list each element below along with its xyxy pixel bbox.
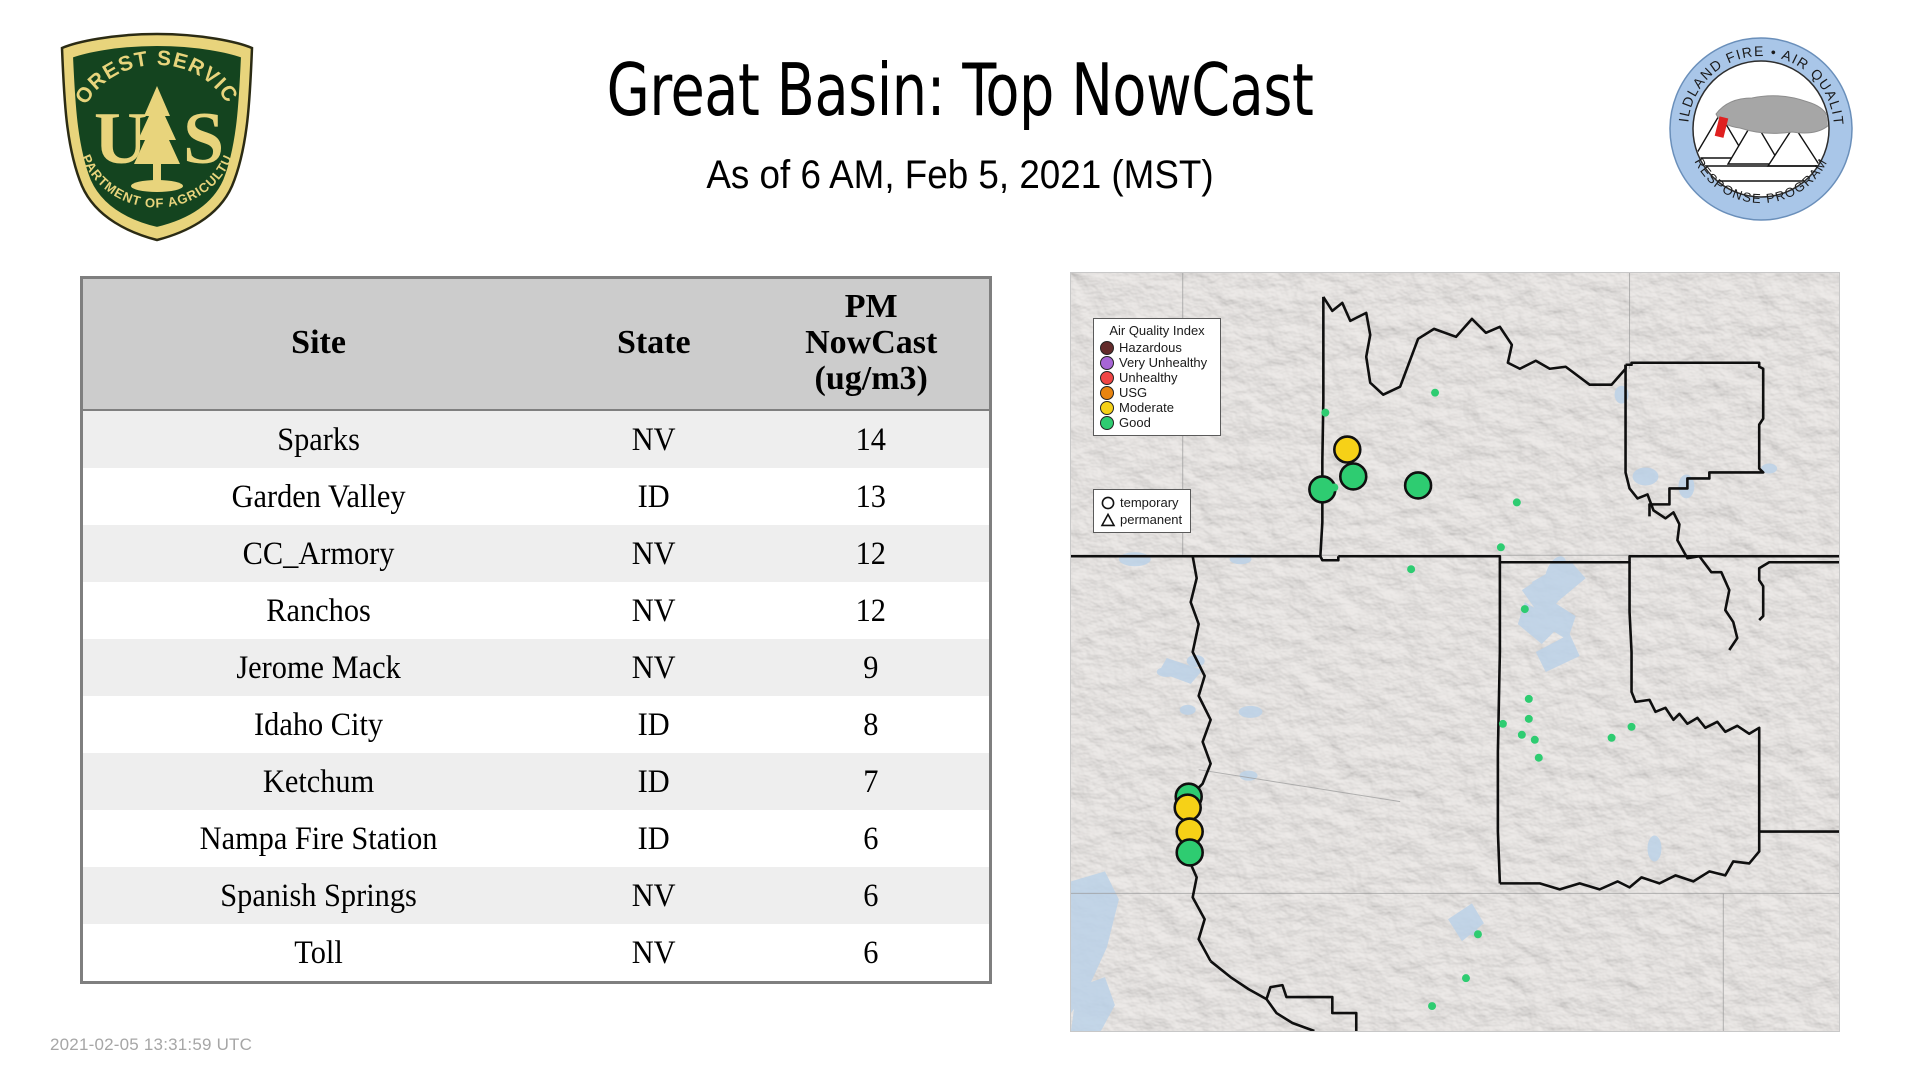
- table-row: Jerome MackNV9: [83, 639, 989, 696]
- legend-label-temporary: temporary: [1120, 496, 1179, 509]
- state-cell: NV: [562, 639, 745, 696]
- legend-row-permanent: permanent: [1100, 511, 1184, 528]
- pm-cell: 8: [763, 696, 980, 753]
- table-row: CC_ArmoryNV12: [83, 525, 989, 582]
- triangle-icon: [1100, 512, 1116, 528]
- aqi-color-swatch: [1100, 341, 1114, 355]
- pm-cell: 13: [763, 468, 980, 525]
- air-quality-map[interactable]: Air Quality Index HazardousVery Unhealth…: [1070, 272, 1840, 1032]
- monitor-marker[interactable]: [1334, 437, 1360, 463]
- monitor-marker[interactable]: [1175, 795, 1201, 821]
- table-row: RanchosNV12: [83, 582, 989, 639]
- page-title: Great Basin: Top NowCast: [134, 52, 1785, 128]
- monitor-marker[interactable]: [1340, 463, 1366, 489]
- state-cell: ID: [562, 810, 745, 867]
- monitor-marker[interactable]: [1330, 483, 1338, 491]
- site-cell: Sparks: [102, 410, 535, 468]
- state-cell: NV: [562, 582, 745, 639]
- site-cell: Idaho City: [102, 696, 535, 753]
- pm-header-line-3: (ug/m3): [753, 361, 989, 397]
- pm-cell: 6: [763, 924, 980, 981]
- site-cell: Nampa Fire Station: [102, 810, 535, 867]
- monitor-marker[interactable]: [1428, 1002, 1436, 1010]
- site-cell: Garden Valley: [102, 468, 535, 525]
- legend-label-permanent: permanent: [1120, 513, 1182, 526]
- pm-cell: 6: [763, 867, 980, 924]
- aqi-color-swatch: [1100, 371, 1114, 385]
- aqi-legend-item: Good: [1100, 415, 1214, 430]
- state-cell: NV: [562, 410, 745, 468]
- site-cell: Toll: [102, 924, 535, 981]
- pm-cell: 12: [763, 525, 980, 582]
- monitor-marker[interactable]: [1521, 605, 1529, 613]
- page-subtitle: As of 6 AM, Feb 5, 2021 (MST): [77, 152, 1843, 198]
- aqi-legend-item: Unhealthy: [1100, 370, 1214, 385]
- table-row: Spanish SpringsNV6: [83, 867, 989, 924]
- aqi-color-swatch: [1100, 386, 1114, 400]
- column-header-pm-nowcast: PM NowCast (ug/m3): [753, 279, 989, 410]
- aqi-legend-item: USG: [1100, 385, 1214, 400]
- aqi-legend-item: Hazardous: [1100, 340, 1214, 355]
- table-row: Nampa Fire StationID6: [83, 810, 989, 867]
- table-row: Idaho CityID8: [83, 696, 989, 753]
- monitor-marker[interactable]: [1321, 409, 1329, 417]
- monitor-marker[interactable]: [1499, 720, 1507, 728]
- monitor-marker[interactable]: [1513, 498, 1521, 506]
- column-header-state: State: [554, 279, 753, 410]
- aqi-legend-label: Very Unhealthy: [1119, 356, 1207, 369]
- nowcast-table-container: Site State PM NowCast (ug/m3) SparksNV14…: [80, 276, 992, 984]
- monitor-marker[interactable]: [1431, 389, 1439, 397]
- aqi-legend-item: Moderate: [1100, 400, 1214, 415]
- aqi-legend-label: Moderate: [1119, 401, 1174, 414]
- aqi-legend-title: Air Quality Index: [1100, 323, 1214, 338]
- pm-header-line-1: PM: [753, 289, 989, 325]
- aqi-legend-label: Unhealthy: [1119, 371, 1178, 384]
- pm-cell: 9: [763, 639, 980, 696]
- aqi-legend-item: Very Unhealthy: [1100, 355, 1214, 370]
- monitor-marker[interactable]: [1535, 754, 1543, 762]
- circle-icon: [1100, 495, 1116, 511]
- site-cell: Spanish Springs: [102, 867, 535, 924]
- monitor-marker[interactable]: [1628, 723, 1636, 731]
- site-cell: CC_Armory: [102, 525, 535, 582]
- monitor-marker[interactable]: [1177, 840, 1203, 866]
- monitor-marker[interactable]: [1518, 731, 1526, 739]
- table-header: Site State PM NowCast (ug/m3): [83, 279, 989, 410]
- table-row: Garden ValleyID13: [83, 468, 989, 525]
- slide-canvas: FOREST SERVICE U S DEPARTMENT OF AGRICUL…: [0, 0, 1920, 1080]
- monitor-marker[interactable]: [1405, 472, 1431, 498]
- monitor-marker[interactable]: [1525, 715, 1533, 723]
- table-row: TollNV6: [83, 924, 989, 981]
- site-cell: Jerome Mack: [102, 639, 535, 696]
- legend-row-temporary: temporary: [1100, 494, 1184, 511]
- monitor-marker[interactable]: [1531, 736, 1539, 744]
- column-header-site: Site: [83, 279, 554, 410]
- table-row: KetchumID7: [83, 753, 989, 810]
- aqi-legend: Air Quality Index HazardousVery Unhealth…: [1093, 318, 1221, 436]
- monitor-marker[interactable]: [1497, 543, 1505, 551]
- aqi-legend-rows: HazardousVery UnhealthyUnhealthyUSGModer…: [1100, 340, 1214, 430]
- state-cell: NV: [562, 525, 745, 582]
- site-cell: Ketchum: [102, 753, 535, 810]
- aqi-color-swatch: [1100, 401, 1114, 415]
- site-cell: Ranchos: [102, 582, 535, 639]
- table-body: SparksNV14Garden ValleyID13CC_ArmoryNV12…: [83, 410, 989, 981]
- state-cell: NV: [562, 867, 745, 924]
- state-cell: ID: [562, 468, 745, 525]
- pm-header-line-2: NowCast: [753, 325, 989, 361]
- monitor-type-legend: temporary permanent: [1093, 489, 1191, 533]
- aqi-legend-label: Good: [1119, 416, 1151, 429]
- monitor-marker[interactable]: [1525, 695, 1533, 703]
- nowcast-table: Site State PM NowCast (ug/m3) SparksNV14…: [83, 279, 989, 981]
- footer-timestamp: 2021-02-05 13:31:59 UTC: [50, 1035, 252, 1055]
- table-header-row: Site State PM NowCast (ug/m3): [83, 279, 989, 410]
- aqi-legend-label: USG: [1119, 386, 1147, 399]
- aqi-color-swatch: [1100, 416, 1114, 430]
- state-cell: ID: [562, 753, 745, 810]
- state-cell: ID: [562, 696, 745, 753]
- pm-cell: 7: [763, 753, 980, 810]
- aqi-color-swatch: [1100, 356, 1114, 370]
- pm-cell: 14: [763, 410, 980, 468]
- pm-cell: 6: [763, 810, 980, 867]
- monitor-marker[interactable]: [1608, 734, 1616, 742]
- table-row: SparksNV14: [83, 410, 989, 468]
- aqi-legend-label: Hazardous: [1119, 341, 1182, 354]
- monitor-marker[interactable]: [1462, 974, 1470, 982]
- state-cell: NV: [562, 924, 745, 981]
- monitor-marker[interactable]: [1474, 930, 1482, 938]
- pm-cell: 12: [763, 582, 980, 639]
- monitor-marker[interactable]: [1407, 565, 1415, 573]
